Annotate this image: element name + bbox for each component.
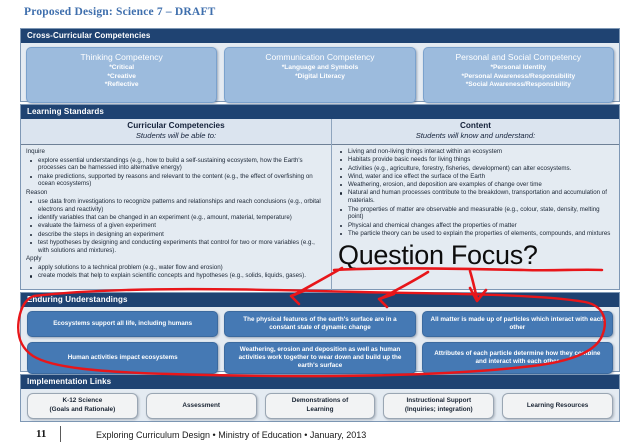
cross-curricular-competencies-section: Cross-Curricular Competencies Thinking C… [20, 28, 620, 102]
group-list-apply: apply solutions to a technical problem (… [26, 264, 325, 280]
group-label-apply: Apply [26, 255, 325, 263]
list-item: explore essential understandings (e.g., … [26, 157, 325, 173]
list-item: Habitats provide basic needs for living … [337, 156, 613, 164]
competency-item: *Reflective [30, 81, 213, 90]
list-item: describe the steps in designing an exper… [26, 231, 325, 239]
list-item: The particle theory can be used to expla… [337, 230, 613, 238]
column-header-curricular: Curricular Competencies Students will be… [21, 119, 331, 145]
implementation-links-heading: Implementation Links [21, 375, 619, 389]
list-item: test hypotheses by designing and conduct… [26, 239, 325, 255]
list-item: identify variables that can be changed i… [26, 214, 325, 222]
link-demonstrations-of-learning[interactable]: Demonstrations ofLearning [265, 393, 376, 419]
group-label-inquire: Inquire [26, 148, 325, 156]
enduring-column-ecosystems: Ecosystems support all life, including h… [27, 311, 218, 374]
list-item: Natural and human processes contribute t… [337, 189, 613, 205]
slide-canvas: Proposed Design: Science 7 – DRAFT Cross… [0, 0, 640, 446]
competency-title: Communication Competency [228, 52, 411, 63]
understanding-box[interactable]: All matter is made up of particles which… [422, 311, 613, 337]
enduring-understandings-section: Enduring Understandings Ecosystems suppo… [20, 292, 620, 372]
column-title: Curricular Competencies [21, 121, 331, 131]
page-title: Proposed Design: Science 7 – DRAFT [24, 6, 216, 18]
competency-item: *Social Awareness/Responsibility [427, 81, 610, 90]
competency-item: *Language and Symbols [228, 64, 411, 73]
group-list-inquire: explore essential understandings (e.g., … [26, 157, 325, 189]
list-item: make predictions, supported by reasons a… [26, 173, 325, 189]
list-item: evaluate the fairness of a given experim… [26, 222, 325, 230]
link-instructional-support[interactable]: Instructional Support(Inquiries; integra… [383, 393, 494, 419]
understanding-box[interactable]: Human activities impact ecosystems [27, 342, 218, 374]
implementation-links-section: Implementation Links K-12 Science(Goals … [20, 374, 620, 422]
understanding-box[interactable]: The physical features of the earth's sur… [224, 311, 415, 337]
competency-box-personal-social[interactable]: Personal and Social Competency *Personal… [423, 47, 614, 103]
understanding-box[interactable]: Weathering, erosion and deposition as we… [224, 342, 415, 374]
column-title: Content [332, 121, 619, 131]
understanding-box[interactable]: Attributes of each particle determine ho… [422, 342, 613, 374]
curricular-competencies-column: Curricular Competencies Students will be… [21, 119, 332, 293]
enduring-understandings-heading: Enduring Understandings [21, 293, 619, 307]
content-list: Living and non-living things interact wi… [337, 148, 613, 238]
competency-item: *Personal Awareness/Responsibility [427, 73, 610, 82]
cross-curricular-heading: Cross-Curricular Competencies [21, 29, 619, 43]
list-item: apply solutions to a technical problem (… [26, 264, 325, 272]
list-item: Wind, water and ice effect the surface o… [337, 173, 613, 181]
enduring-column-matter: All matter is made up of particles which… [422, 311, 613, 374]
column-subtitle: Students will know and understand: [332, 131, 619, 141]
enduring-column-earth: The physical features of the earth's sur… [224, 311, 415, 374]
column-subtitle: Students will be able to: [21, 131, 331, 141]
learning-standards-heading: Learning Standards [21, 105, 619, 119]
implementation-links-row: K-12 Science(Goals and Rationale) Assess… [21, 389, 619, 419]
competency-box-row: Thinking Competency *Critical *Creative … [21, 43, 619, 103]
list-item: use data from investigations to recogniz… [26, 198, 325, 214]
question-focus-annotation: Question Focus? [338, 240, 538, 271]
curricular-competencies-body: Inquire explore essential understandings… [21, 145, 331, 280]
competency-item: *Creative [30, 73, 213, 82]
competency-item: *Critical [30, 64, 213, 73]
footer-text: Exploring Curriculum Design • Ministry o… [96, 430, 366, 440]
list-item: create models that help to explain scien… [26, 272, 325, 280]
list-item: The properties of matter are observable … [337, 206, 613, 222]
competency-box-communication[interactable]: Communication Competency *Language and S… [224, 47, 415, 103]
footer-divider [60, 426, 61, 442]
competency-box-thinking[interactable]: Thinking Competency *Critical *Creative … [26, 47, 217, 103]
content-body: Living and non-living things interact wi… [332, 145, 619, 238]
enduring-understandings-row: Ecosystems support all life, including h… [21, 307, 619, 374]
link-assessment[interactable]: Assessment [146, 393, 257, 419]
list-item: Weathering, erosion, and deposition are … [337, 181, 613, 189]
list-item: Physical and chemical changes affect the… [337, 222, 613, 230]
list-item: Activities (e.g., agriculture, forestry,… [337, 165, 613, 173]
group-label-reason: Reason [26, 189, 325, 197]
page-number: 11 [36, 428, 46, 440]
competency-title: Thinking Competency [30, 52, 213, 63]
group-list-reason: use data from investigations to recogniz… [26, 198, 325, 255]
list-item: Living and non-living things interact wi… [337, 148, 613, 156]
link-k12-science[interactable]: K-12 Science(Goals and Rationale) [27, 393, 138, 419]
competency-item: *Digital Literacy [228, 73, 411, 82]
competency-title: Personal and Social Competency [427, 52, 610, 63]
understanding-box[interactable]: Ecosystems support all life, including h… [27, 311, 218, 337]
competency-item: *Personal Identity [427, 64, 610, 73]
column-header-content: Content Students will know and understan… [332, 119, 619, 145]
link-learning-resources[interactable]: Learning Resources [502, 393, 613, 419]
